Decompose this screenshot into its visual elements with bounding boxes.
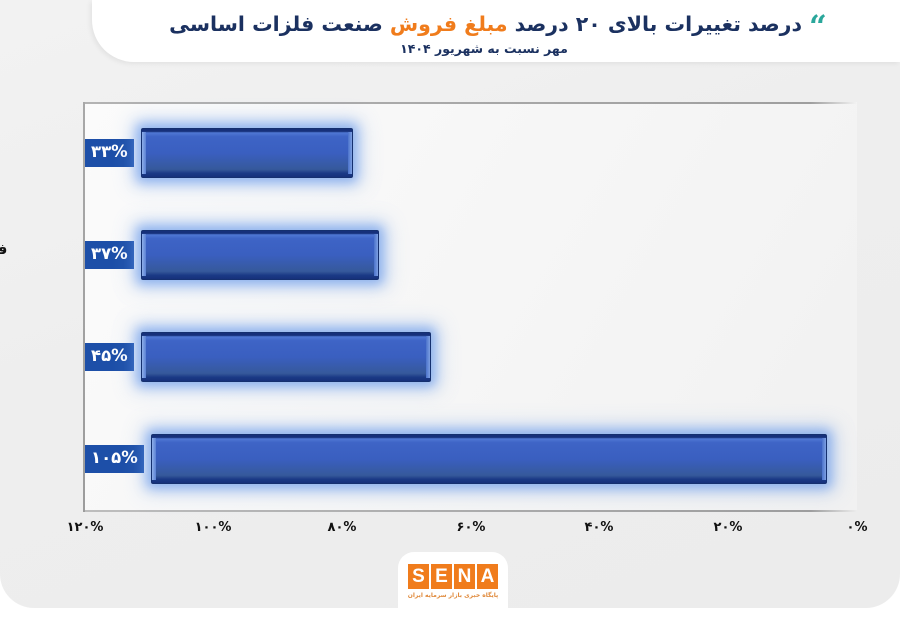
category-label: فایرا xyxy=(0,344,22,360)
title-block: “ درصد تغییرات بالای ۲۰ درصد مبلغ فروش ص… xyxy=(112,8,882,56)
bar-bevel-right xyxy=(822,438,826,480)
sena-letter-n: N xyxy=(454,564,475,589)
chart-container: فملی ۳۳% فجهان xyxy=(0,62,900,552)
x-axis-ticks: ۰% ۲۰% ۴۰% ۶۰% ۸۰% ۱۰۰% ۱۲۰% xyxy=(85,520,857,546)
bar-bevel-right xyxy=(426,336,430,378)
bar-bevel-left xyxy=(142,234,146,276)
x-tick-label: ۶۰% xyxy=(457,520,486,535)
bar[interactable] xyxy=(141,230,379,280)
bar-value-label: ۱۰۵% xyxy=(85,445,144,473)
bar-fill xyxy=(141,332,431,382)
title-part-1: درصد تغییرات بالای ۲۰ درصد xyxy=(515,12,802,36)
quote-marks-icon: “ xyxy=(809,12,825,43)
x-tick-label: ۱۰۰% xyxy=(195,520,232,535)
bar-value-label: ۳۳% xyxy=(85,139,134,167)
title-part-2-highlight: مبلغ فروش xyxy=(390,12,508,36)
sena-letter-s: S xyxy=(408,564,429,589)
bar[interactable] xyxy=(141,332,431,382)
bar-fill xyxy=(141,230,379,280)
x-tick-label: ۲۰% xyxy=(714,520,743,535)
title-bar: “ درصد تغییرات بالای ۲۰ درصد مبلغ فروش ص… xyxy=(92,0,900,62)
bar-group: ۳۳% xyxy=(85,128,353,178)
bar-group: ۳۷% xyxy=(85,230,379,280)
sena-letter-a: A xyxy=(477,564,498,589)
bar-fill xyxy=(141,128,353,178)
chart-bar-row: فایرا ۴۵% xyxy=(85,306,857,408)
axis-line-bottom xyxy=(85,510,857,512)
bar-value-label: ۳۷% xyxy=(85,241,134,269)
bar-bevel-left xyxy=(142,336,146,378)
page-subtitle: مهر نسبت به شهریور ۱۴۰۴ xyxy=(112,41,882,56)
sena-wordmark: S E N A xyxy=(408,564,498,589)
page-title: “ درصد تغییرات بالای ۲۰ درصد مبلغ فروش ص… xyxy=(169,8,825,39)
chart-bar-row: فجهان ۳۷% xyxy=(85,204,857,306)
category-label: فملی xyxy=(0,140,22,156)
page-card: “ درصد تغییرات بالای ۲۰ درصد مبلغ فروش ص… xyxy=(0,0,900,608)
bar-group: ۴۵% xyxy=(85,332,431,382)
bar-bevel-right xyxy=(348,132,352,174)
chart-bar-row: فملی ۳۳% xyxy=(85,102,857,204)
category-label: فجهان xyxy=(0,242,22,258)
bar[interactable] xyxy=(141,128,353,178)
bar[interactable] xyxy=(151,434,827,484)
bar-value-label: ۴۵% xyxy=(85,343,134,371)
sena-logo: S E N A پایگاه خبری بازار سرمایه ایران xyxy=(398,552,508,618)
x-tick-label: ۱۲۰% xyxy=(67,520,104,535)
bar-group: ۱۰۵% xyxy=(85,434,827,484)
bar-bevel-left xyxy=(152,438,156,480)
x-tick-label: ۴۰% xyxy=(585,520,614,535)
bar-bevel-right xyxy=(374,234,378,276)
chart-bar-row: فخوز ۱۰۵% xyxy=(85,408,857,510)
sena-logo-subtitle: پایگاه خبری بازار سرمایه ایران xyxy=(408,592,499,599)
category-label: فخوز xyxy=(0,446,22,462)
bar-bevel-left xyxy=(142,132,146,174)
bar-fill xyxy=(151,434,827,484)
title-part-3: صنعت فلزات اساسی xyxy=(169,12,383,36)
x-tick-label: ۰% xyxy=(847,520,868,535)
x-tick-label: ۸۰% xyxy=(328,520,357,535)
sena-letter-e: E xyxy=(431,564,452,589)
